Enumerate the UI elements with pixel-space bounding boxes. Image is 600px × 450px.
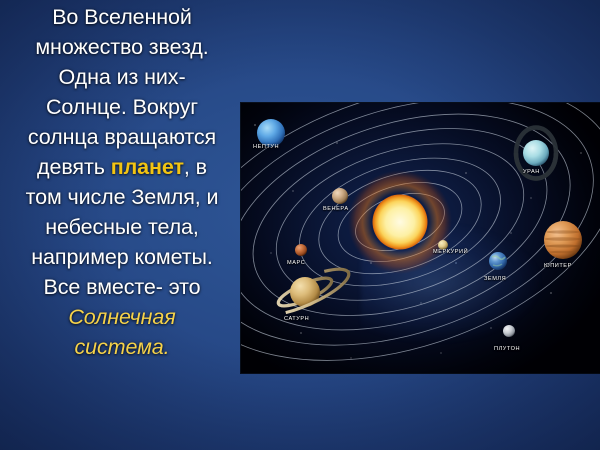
- solar-system-svg: [241, 103, 600, 373]
- highlight-planet-word: планет: [111, 155, 184, 179]
- text-line-1: Во Вселенной: [2, 2, 242, 32]
- text-line-10: Все вместе- это: [2, 272, 242, 302]
- closing-line-1: Солнечная: [2, 302, 242, 332]
- planet-label-pluto: ПЛУТОН: [494, 346, 520, 352]
- text-line-6-post: , в: [184, 155, 207, 179]
- planet-label-earth: ЗЕМЛЯ: [484, 276, 506, 282]
- planet-mars: [295, 244, 307, 256]
- planet-jupiter: [544, 221, 582, 259]
- planet-saturn: [275, 263, 354, 315]
- planet-label-saturn: САТУРН: [284, 316, 309, 322]
- text-line-8: небесные тела,: [2, 212, 242, 242]
- planet-label-venus: ВЕНЕРА: [323, 206, 349, 212]
- sun: [348, 170, 452, 274]
- planet-label-neptune: НЕПТУН: [253, 144, 279, 150]
- planet-label-uranus: УРАН: [523, 169, 540, 175]
- text-line-9: например кометы.: [2, 242, 242, 272]
- planet-label-jupiter: ЮПИТЕР: [544, 263, 572, 269]
- planet-neptune: [257, 119, 285, 147]
- slide-text-block: Во Вселенной множество звезд. Одна из ни…: [0, 2, 244, 362]
- text-line-6: девять планет, в: [2, 152, 242, 182]
- text-line-5: солнца вращаются: [2, 122, 242, 152]
- text-line-2: множество звезд.: [2, 32, 242, 62]
- planet-label-mars: МАРС: [287, 260, 305, 266]
- slide-canvas: Во Вселенной множество звезд. Одна из ни…: [0, 0, 600, 450]
- planet-pluto: [503, 325, 515, 337]
- planet-earth: [489, 252, 507, 270]
- text-line-6-pre: девять: [37, 155, 111, 179]
- text-line-7: том числе Земля, и: [2, 182, 242, 212]
- solar-system-image: НЕПТУН УРАН ВЕНЕРА ЮПИТЕР МЕРКУРИЙ ЗЕМЛЯ…: [241, 103, 600, 373]
- planet-label-mercury: МЕРКУРИЙ: [433, 249, 468, 255]
- planet-venus: [332, 188, 348, 204]
- text-line-4: Солнце. Вокруг: [2, 92, 242, 122]
- text-line-3: Одна из них-: [2, 62, 242, 92]
- closing-line-2: система.: [2, 332, 242, 362]
